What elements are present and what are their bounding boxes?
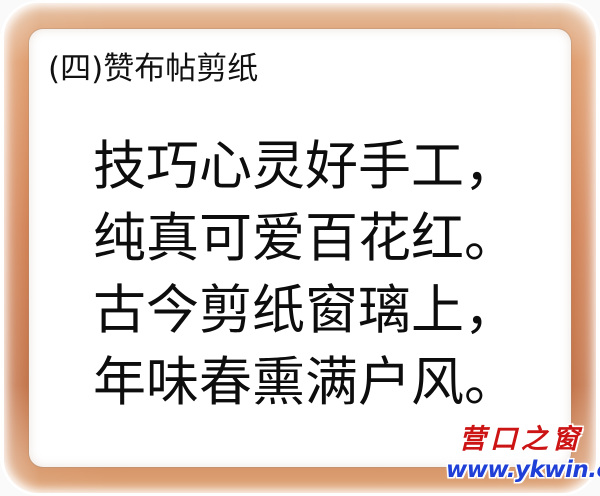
poster-image: (四)赞布帖剪纸 技巧心灵好手工， 纯真可爱百花红。 古今剪纸窗璃上， 年味春熏… xyxy=(0,0,600,496)
poem-line-4: 年味春熏满户风。 xyxy=(93,347,563,419)
watermark: 营口之窗 www.ykwin.com xyxy=(446,424,596,492)
poem-line-3: 古今剪纸窗璃上， xyxy=(93,275,563,347)
watermark-url[interactable]: www.ykwin.com xyxy=(446,457,596,483)
poem-line-1: 技巧心灵好手工， xyxy=(93,131,563,203)
poem-body: 技巧心灵好手工， 纯真可爱百花红。 古今剪纸窗璃上， 年味春熏满户风。 xyxy=(93,131,563,419)
poster-content: (四)赞布帖剪纸 技巧心灵好手工， 纯真可爱百花红。 古今剪纸窗璃上， 年味春熏… xyxy=(29,29,571,467)
poem-line-2: 纯真可爱百花红。 xyxy=(93,203,563,275)
poster-title: (四)赞布帖剪纸 xyxy=(48,50,258,88)
watermark-site-name: 营口之窗 xyxy=(446,424,596,456)
